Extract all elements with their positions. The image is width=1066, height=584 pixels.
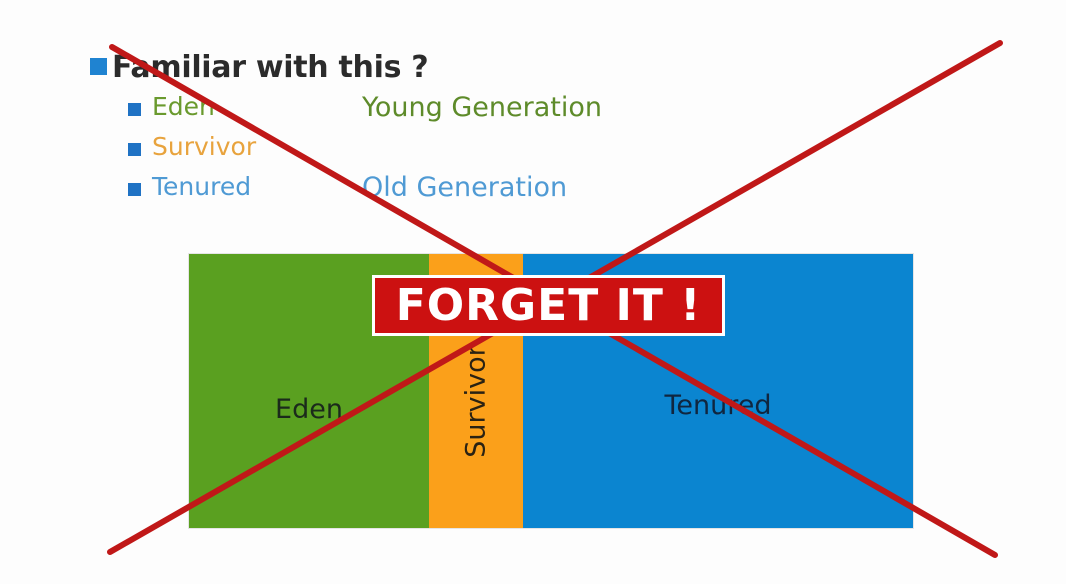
list-item-label-eden: Eden — [152, 92, 215, 121]
list-item: Eden Young Generation — [90, 92, 710, 132]
slide-canvas: Familiar with this ? Eden Young Generati… — [0, 0, 1066, 584]
square-bullet-icon — [128, 183, 141, 196]
page-title: Familiar with this ? — [112, 50, 428, 85]
square-bullet-icon — [128, 143, 141, 156]
heap-region-label-eden: Eden — [275, 394, 343, 425]
list-item-label-survivor: Survivor — [152, 132, 256, 161]
heap-region-label-tenured: Tenured — [665, 390, 772, 421]
slide-title-row: Familiar with this ? — [90, 50, 710, 92]
bullet-list: Familiar with this ? Eden Young Generati… — [90, 50, 710, 212]
list-item: Tenured Old Generation — [90, 172, 710, 212]
forget-it-banner: FORGET IT ! — [372, 275, 725, 336]
heap-region-label-survivor: Survivor — [461, 345, 492, 457]
square-bullet-icon — [128, 103, 141, 116]
list-item-label-tenured: Tenured — [152, 172, 251, 201]
square-bullet-icon — [90, 58, 107, 75]
list-item-generation-young: Young Generation — [362, 92, 602, 123]
list-item-generation-old: Old Generation — [362, 172, 567, 203]
forget-it-banner-text: FORGET IT ! — [396, 280, 702, 331]
list-item: Survivor — [90, 132, 710, 172]
